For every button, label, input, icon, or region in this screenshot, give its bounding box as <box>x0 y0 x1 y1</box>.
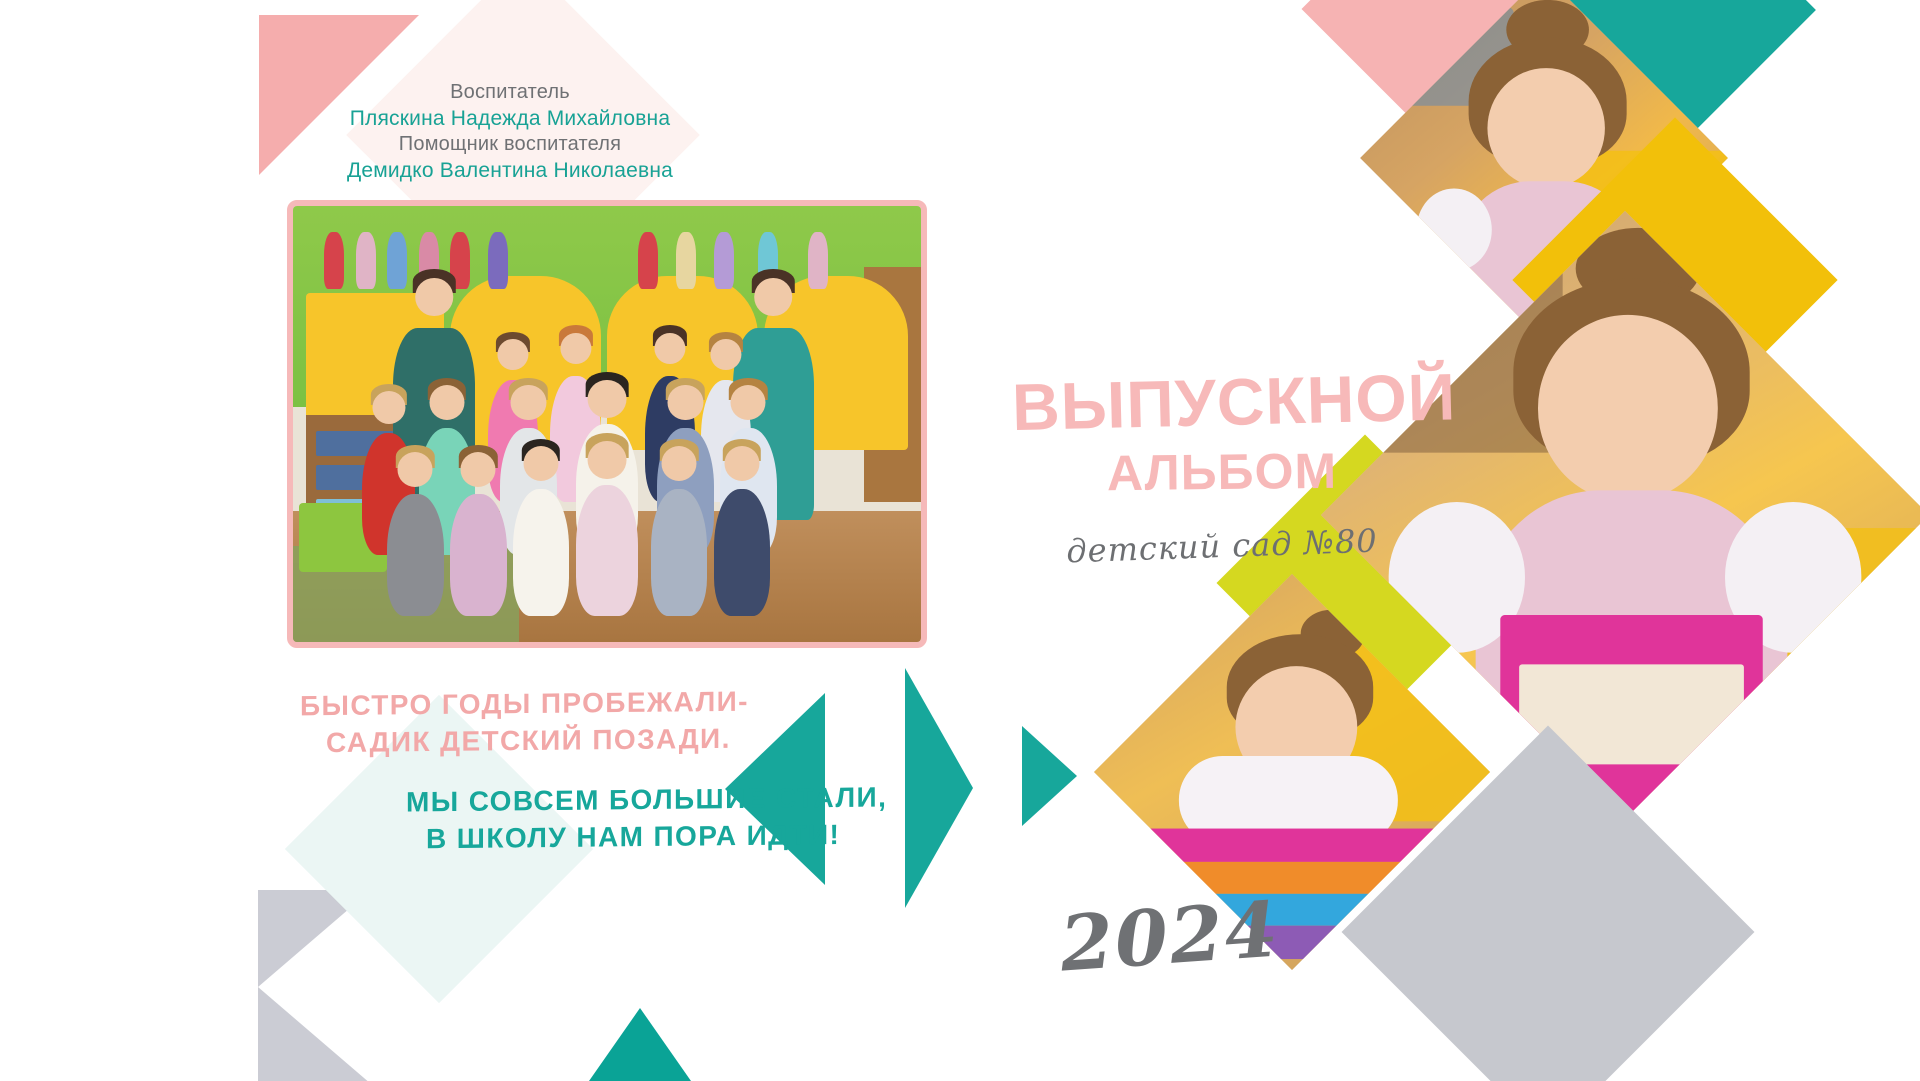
poem-line-4: В ШКОЛУ НАМ ПОРА ИДТИ! <box>406 816 887 858</box>
child <box>387 494 444 616</box>
triangle-teal-arrow-3 <box>1022 726 1077 826</box>
child <box>450 494 507 616</box>
triangle-teal-bottom <box>545 1008 735 1081</box>
album-cover-page: Воспитатель Пляскина Надежда Михайловна … <box>0 0 1920 1081</box>
kindergarten-name: детский сад №80 <box>1011 519 1432 572</box>
caption-role-teacher: Воспитатель <box>300 80 720 106</box>
group-photo-scene <box>293 206 921 642</box>
doll <box>808 232 828 289</box>
doll <box>324 232 344 289</box>
triangle-teal-arrow-2 <box>905 668 973 908</box>
child <box>651 489 708 615</box>
child <box>714 489 771 615</box>
page-title: ВЫПУСКНОЙ <box>1011 365 1432 440</box>
caption-name-teacher: Пляскина Надежда Михайловна <box>300 106 720 133</box>
doll <box>356 232 376 289</box>
caption-role-assistant: Помощник воспитателя <box>300 132 720 158</box>
poem-stanza-2: МЫ СОВСЕМ БОЛЬШИЕ СТАЛИ, В ШКОЛУ НАМ ПОР… <box>406 779 887 858</box>
poem-line-1: БЫСТРО ГОДЫ ПРОБЕЖАЛИ- <box>300 684 749 726</box>
cover-title-block: ВЫПУСКНОЙ АЛЬБОМ детский сад №80 <box>1012 370 1432 565</box>
page-subtitle: АЛЬБОМ <box>1012 440 1433 502</box>
group-photo <box>287 200 927 648</box>
doll <box>488 232 508 289</box>
poem-stanza-1: БЫСТРО ГОДЫ ПРОБЕЖАЛИ- САДИК ДЕТСКИЙ ПОЗ… <box>300 684 749 763</box>
child <box>576 485 639 616</box>
child <box>513 489 570 615</box>
doll <box>638 232 658 289</box>
poem-line-3: МЫ СОВСЕМ БОЛЬШИЕ СТАЛИ, <box>406 779 887 821</box>
doll <box>387 232 407 289</box>
caption-name-assistant: Демидко Валентина Николаевна <box>300 158 720 185</box>
year-label: 2024 <box>1057 884 1282 988</box>
doll <box>676 232 696 289</box>
teachers-caption: Воспитатель Пляскина Надежда Михайловна … <box>300 80 720 185</box>
doll <box>714 232 734 289</box>
poem-line-2: САДИК ДЕТСКИЙ ПОЗАДИ. <box>300 721 749 763</box>
